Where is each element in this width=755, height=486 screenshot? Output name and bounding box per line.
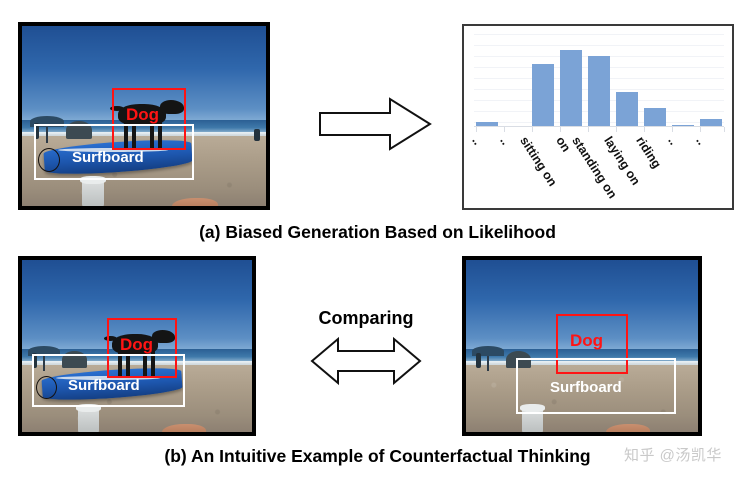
bbox-label-dog: Dog <box>120 336 153 353</box>
chart-bars <box>474 34 724 126</box>
x-tick-label-1: .. <box>497 134 513 147</box>
x-tick-label-7: .. <box>665 134 681 147</box>
distant-person-right <box>254 129 260 141</box>
figure-root: Dog Surfboard <box>0 0 755 486</box>
likelihood-bar-chart: .. .. sitting on on standing on laying o… <box>462 24 734 210</box>
bbox-label-dog: Dog <box>570 332 603 349</box>
photo-top-left-original: Dog Surfboard <box>18 22 270 210</box>
photo-bottom-left-original: Dog Surfboard <box>18 256 256 436</box>
distant-person <box>476 353 481 368</box>
x-tick-label-8: .. <box>693 134 709 147</box>
hand-object <box>172 198 218 206</box>
bar-6 <box>644 108 666 126</box>
arrow-left-right-icon <box>310 336 422 386</box>
comparing-label: Comparing <box>286 308 446 329</box>
watermark-text: 知乎 @汤凯华 <box>624 444 722 465</box>
hand-object <box>162 424 206 432</box>
umbrella-pole <box>487 356 489 371</box>
bbox-label-surfboard: Surfboard <box>550 380 622 395</box>
bar-5 <box>616 92 638 126</box>
x-tick-label-6: riding <box>633 134 664 171</box>
bar-4 <box>588 56 610 126</box>
photo-bottom-right-counterfactual: Dog Surfboard <box>462 256 702 436</box>
hand-object <box>606 424 650 432</box>
bbox-label-dog: Dog <box>126 106 159 123</box>
bar-8 <box>700 119 722 126</box>
arrow-right-icon <box>318 95 432 153</box>
x-tick-label-0: .. <box>469 134 485 147</box>
chart-x-labels: .. .. sitting on on standing on laying o… <box>474 134 724 214</box>
bar-3 <box>560 50 582 126</box>
caption-panel-a: (a) Biased Generation Based on Likelihoo… <box>0 222 755 243</box>
bbox-label-surfboard: Surfboard <box>72 150 144 165</box>
bbox-label-surfboard: Surfboard <box>68 378 140 393</box>
bar-2 <box>532 64 554 126</box>
